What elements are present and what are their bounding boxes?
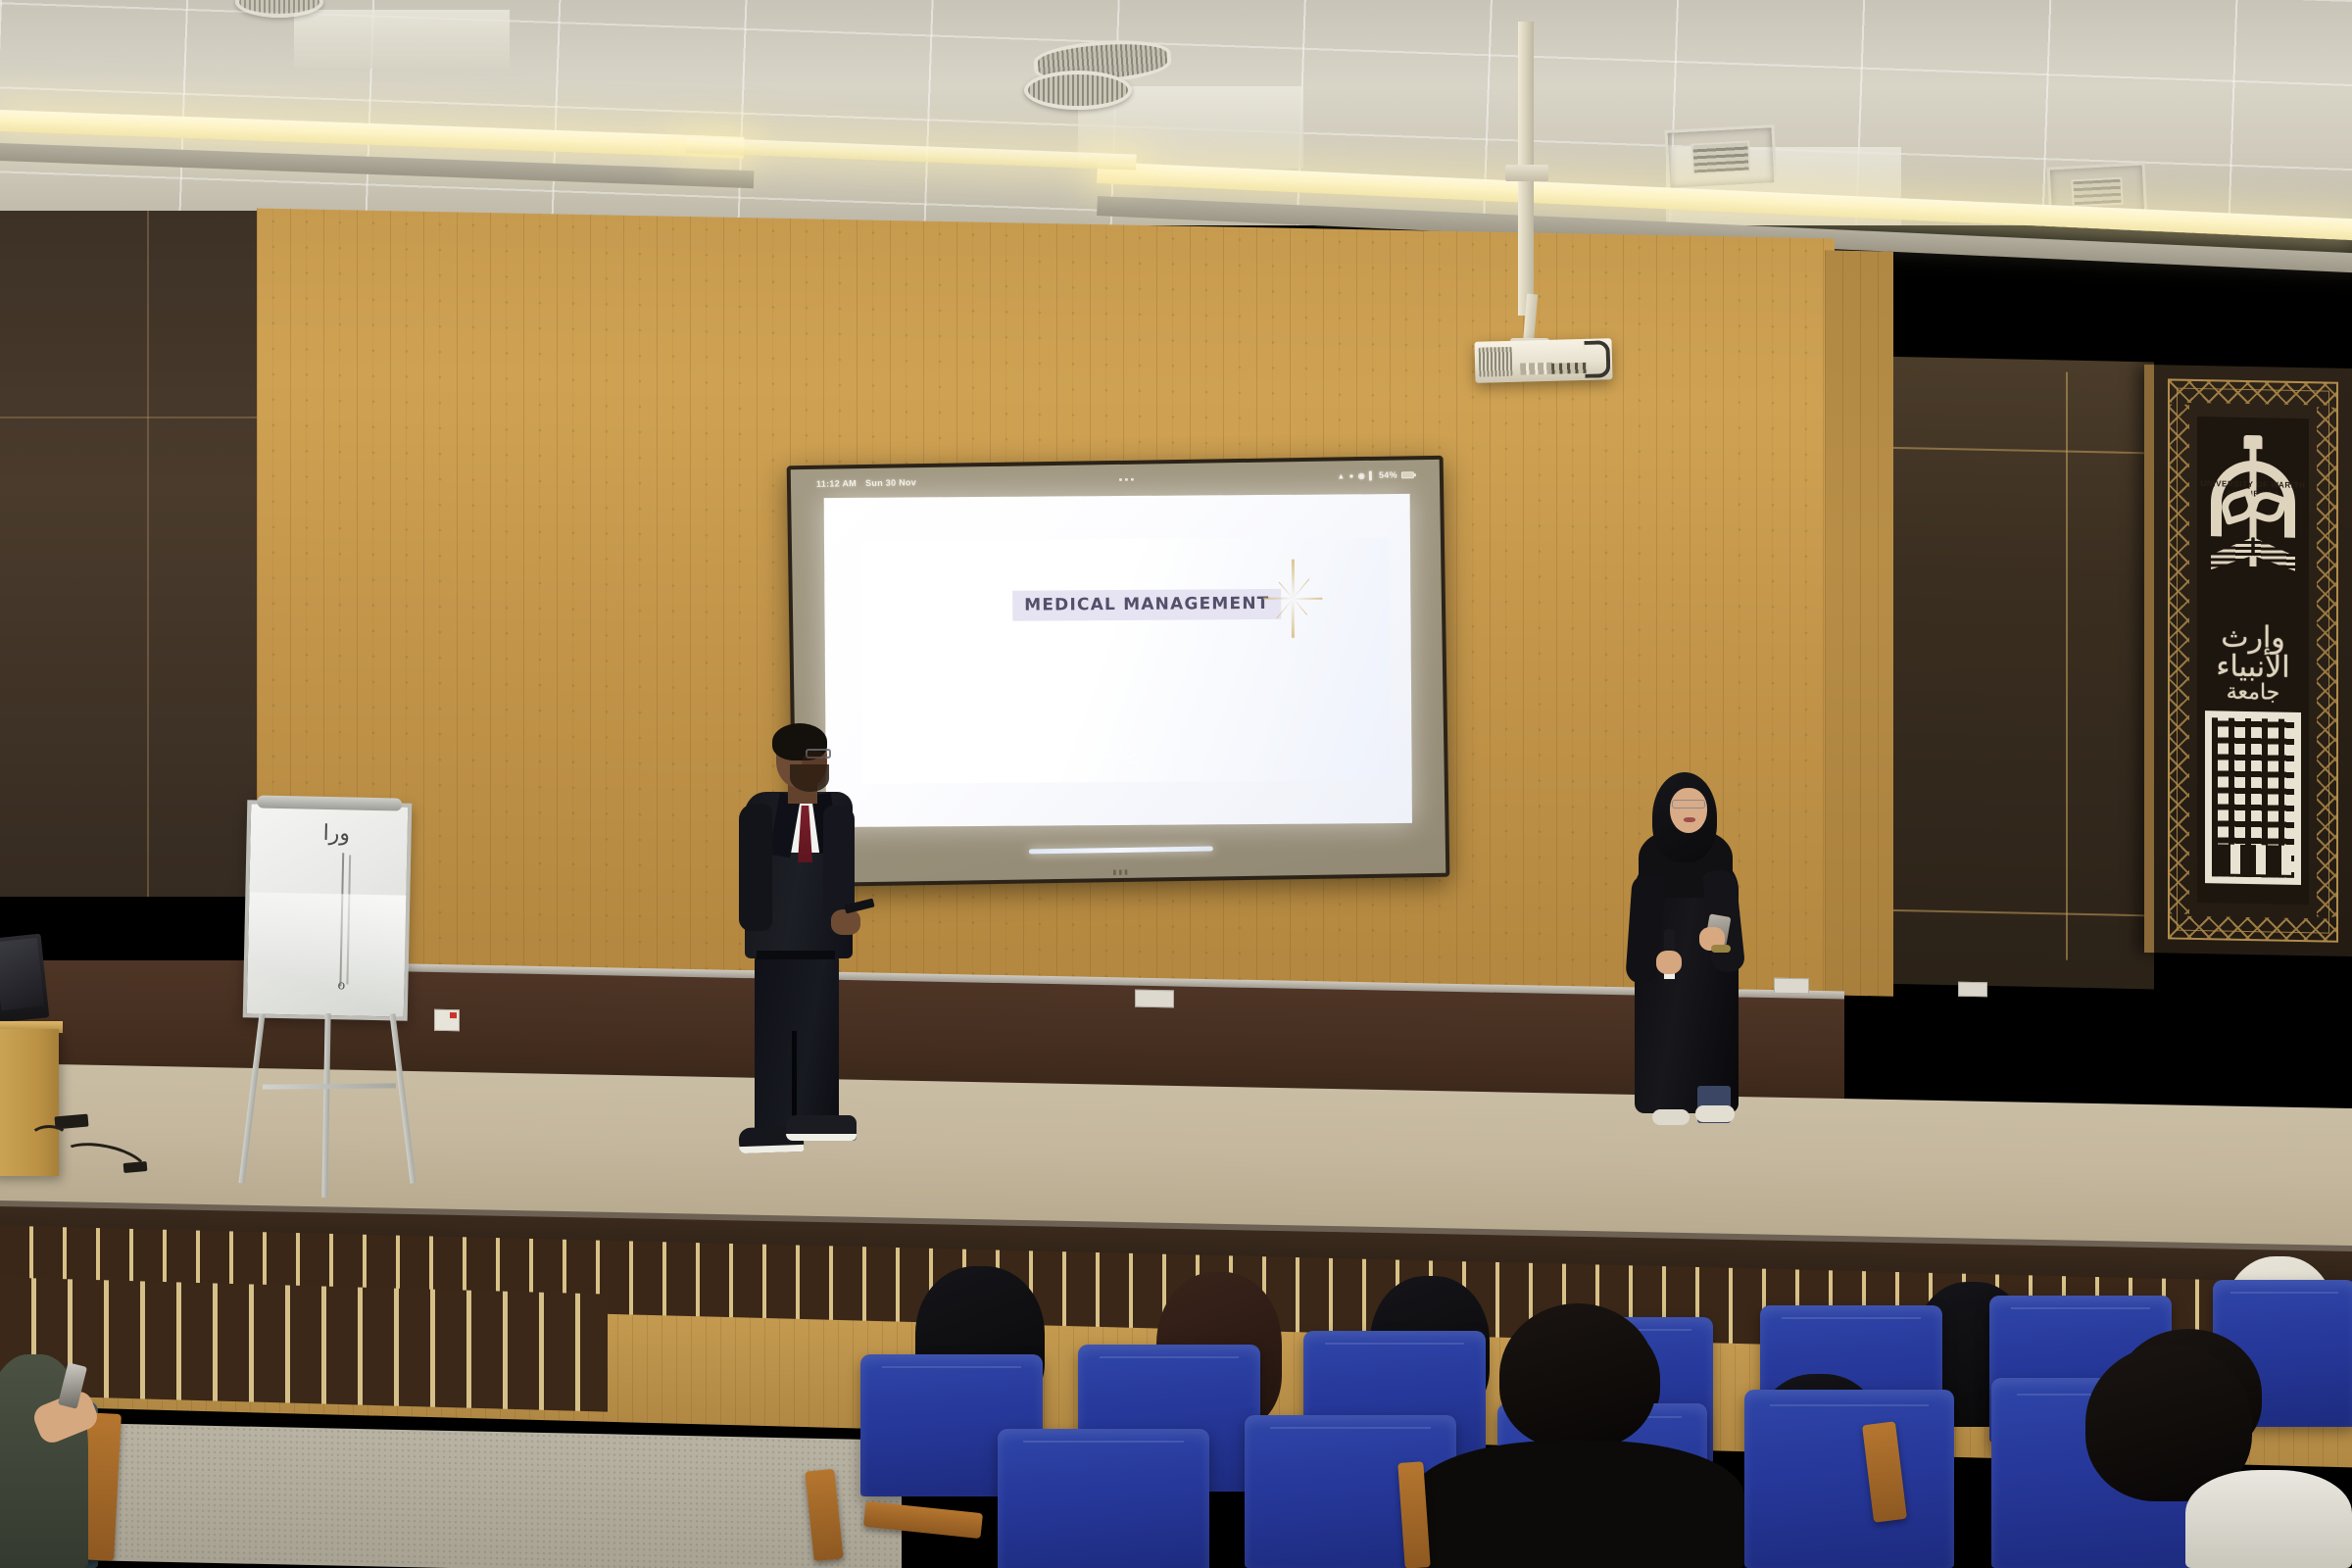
gesture-nav-pill[interactable] xyxy=(1029,847,1213,855)
wood-pilaster xyxy=(1825,250,1893,996)
audience-head xyxy=(1499,1303,1656,1448)
power-socket[interactable] xyxy=(1958,982,1987,998)
flipchart-ink-mark: ورا xyxy=(322,821,350,847)
square-vent-icon xyxy=(1664,124,1777,191)
hand xyxy=(1656,951,1682,974)
university-emblem: UNIVERSITY OF WARITH AL-ANBIYAA وارث الأ… xyxy=(2144,365,2352,956)
shoe xyxy=(1652,1109,1690,1125)
podium-monitor[interactable] xyxy=(0,934,49,1023)
ceiling xyxy=(0,0,2352,225)
emblem-diamond-band xyxy=(2170,915,2336,940)
striped-wall-panel xyxy=(0,1277,608,1411)
display-surface[interactable]: 11:12 AM Sun 30 Nov ▲ ● ◉ ▌ 54% MEDICAL xyxy=(791,460,1446,883)
phone-status-bar: 11:12 AM Sun 30 Nov ▲ ● ◉ ▌ 54% xyxy=(791,464,1440,495)
power-socket[interactable] xyxy=(1774,978,1809,995)
emblem-side-band xyxy=(2170,404,2189,913)
status-date: Sun 30 Nov xyxy=(865,477,916,488)
bluetooth-icon: ● xyxy=(1348,471,1353,480)
shoe xyxy=(786,1115,857,1141)
ceiling-tile-lit xyxy=(294,10,510,69)
flipchart-whiteboard[interactable]: ورا o xyxy=(243,800,413,1020)
power-socket[interactable] xyxy=(1135,990,1174,1008)
slide-content-area: MEDICAL MANAGEMENT xyxy=(861,537,1391,784)
female-presenter xyxy=(1617,772,1754,1145)
emblem-inner-panel: UNIVERSITY OF WARITH AL-ANBIYAA وارث الأ… xyxy=(2197,416,2309,905)
emblem-english-text: UNIVERSITY OF WARITH AL-ANBIYAA xyxy=(2197,479,2309,500)
face xyxy=(1670,788,1707,833)
flipchart-clamp xyxy=(257,795,402,810)
left-arm xyxy=(739,804,772,931)
battery-percent: 54% xyxy=(1379,470,1397,480)
projector-vent-icon xyxy=(1479,347,1513,377)
projector-mount-collar xyxy=(1505,165,1548,181)
crest-graphic: UNIVERSITY OF WARITH AL-ANBIYAA xyxy=(2197,434,2309,632)
signal-icon: ▌ xyxy=(1369,470,1375,479)
stage-cable xyxy=(29,1125,69,1151)
alarm-icon: ◉ xyxy=(1358,471,1365,480)
monitor-screen xyxy=(0,938,44,1010)
battery-icon xyxy=(1401,471,1414,478)
lectern[interactable] xyxy=(0,1029,59,1176)
trousers xyxy=(755,955,839,1139)
nav-keys[interactable]: ▮▮▮ xyxy=(1112,868,1130,876)
lips xyxy=(1684,817,1695,822)
glasses-icon xyxy=(1672,800,1705,808)
projector-buttons[interactable] xyxy=(1520,363,1553,375)
sparkle-burst-white-icon xyxy=(1095,737,1146,788)
face-shading xyxy=(802,751,827,786)
projector-cable xyxy=(1584,340,1610,378)
kufic-calligraphy-panel xyxy=(2205,710,2301,885)
shoe xyxy=(1695,1105,1735,1122)
audience-shoulders xyxy=(2185,1470,2352,1568)
slide-title: MEDICAL MANAGEMENT xyxy=(1012,589,1282,621)
lecture-hall-photo: UNIVERSITY OF WARITH AL-ANBIYAA وارث الأ… xyxy=(0,0,2352,1568)
audience-shoulders xyxy=(1411,1441,1744,1568)
emblem-arabic-block: وارث الأنبياء جامعة xyxy=(2201,622,2305,701)
emblem-diamond-band xyxy=(2170,380,2336,405)
aisle-carpet xyxy=(0,1421,902,1568)
emblem-side-band xyxy=(2317,407,2336,916)
flipchart-glare xyxy=(247,892,407,1016)
projected-slide: MEDICAL MANAGEMENT xyxy=(824,494,1412,827)
ceiling-projector xyxy=(1474,338,1612,383)
power-socket[interactable] xyxy=(434,1009,460,1031)
wifi-icon: ▲ xyxy=(1337,471,1345,480)
emblem-arabic-line1: وارث الأنبياء xyxy=(2216,619,2289,684)
male-presenter xyxy=(729,727,886,1217)
audience-seat[interactable] xyxy=(1744,1390,1954,1568)
round-air-diffuser-icon xyxy=(1024,71,1132,110)
status-center-dots xyxy=(1119,477,1134,480)
cable-connector xyxy=(123,1161,148,1173)
audience-seat[interactable] xyxy=(998,1429,1209,1568)
kufic-base-blocks xyxy=(2215,844,2291,874)
projector-ports xyxy=(1551,363,1587,374)
dark-wall-left xyxy=(0,211,265,897)
bracelet xyxy=(1711,945,1731,953)
belt xyxy=(757,951,835,959)
wall-display[interactable]: 11:12 AM Sun 30 Nov ▲ ● ◉ ▌ 54% MEDICAL xyxy=(787,456,1450,887)
status-time: 11:12 AM xyxy=(816,478,857,489)
